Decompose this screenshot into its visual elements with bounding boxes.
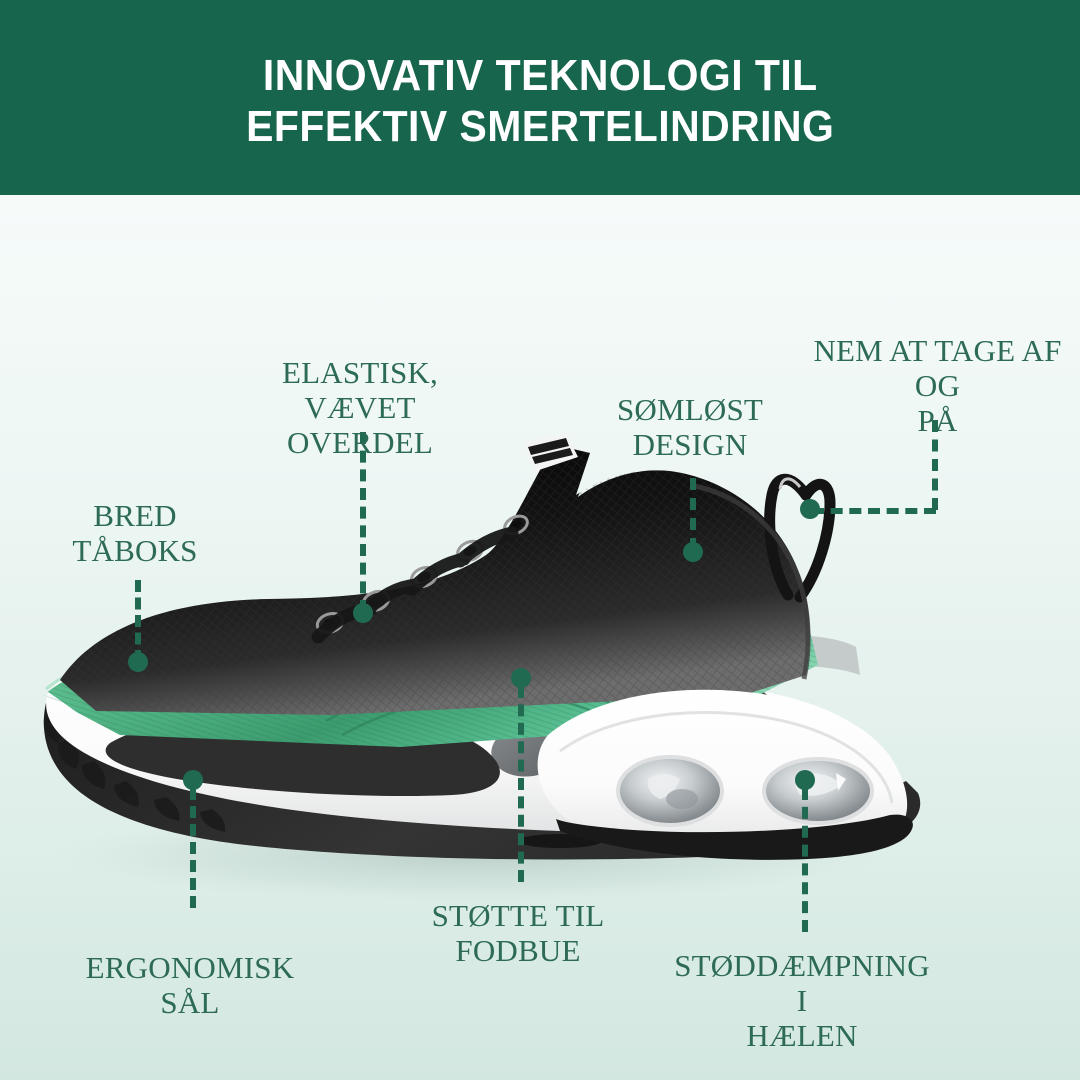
leader-line-soemloest-design	[690, 478, 696, 550]
leader-dot-stoette-til-fodbue	[511, 668, 531, 688]
leader-line-nem-at-tage-horizontal	[812, 508, 936, 514]
leader-line-stoddaempning-i-haelen	[802, 788, 808, 932]
leader-dot-elastisk-vaevet-overdel	[353, 603, 373, 623]
callout-label-stoddaempning-i-haelen: STØDDÆMPNING I HÆLEN	[668, 948, 936, 1053]
callout-label-ergonomisk-saal: ERGONOMISK SÅL	[70, 950, 310, 1020]
callout-label-stoette-til-fodbue: STØTTE TIL FODBUE	[412, 898, 624, 968]
leader-dot-soemloest-design	[683, 542, 703, 562]
leader-line-ergonomisk-saal	[190, 788, 196, 908]
callout-label-soemloest-design: SØMLØST DESIGN	[578, 392, 802, 462]
callout-label-nem-at-tage-af-og-paa: NEM AT TAGE AF OG PÅ	[795, 333, 1080, 438]
leader-dot-nem-at-tage-af-og-paa	[800, 499, 820, 519]
air-cushion-window-rear	[764, 759, 872, 823]
callout-label-elastisk-vaevet-overdel: ELASTISK, VÆVET OVERDEL	[230, 355, 490, 460]
air-cushion-window-front	[618, 757, 722, 825]
header-banner: INNOVATIV TEKNOLOGI TIL EFFEKTIV SMERTEL…	[0, 0, 1080, 195]
leader-line-bred-taaboks	[135, 580, 141, 662]
leader-dot-ergonomisk-saal	[183, 770, 203, 790]
leader-dot-bred-taaboks	[128, 652, 148, 672]
leader-dot-stoddaempning-i-haelen	[795, 770, 815, 790]
header-title-line-1: INNOVATIV TEKNOLOGI TIL	[263, 51, 818, 101]
leader-line-stoette-til-fodbue	[518, 686, 524, 882]
callout-label-bred-taaboks: BRED TÅBOKS	[20, 498, 250, 568]
infographic-page: INNOVATIV TEKNOLOGI TIL EFFEKTIV SMERTEL…	[0, 0, 1080, 1080]
header-title-line-2: EFFEKTIV SMERTELINDRING	[246, 102, 834, 152]
